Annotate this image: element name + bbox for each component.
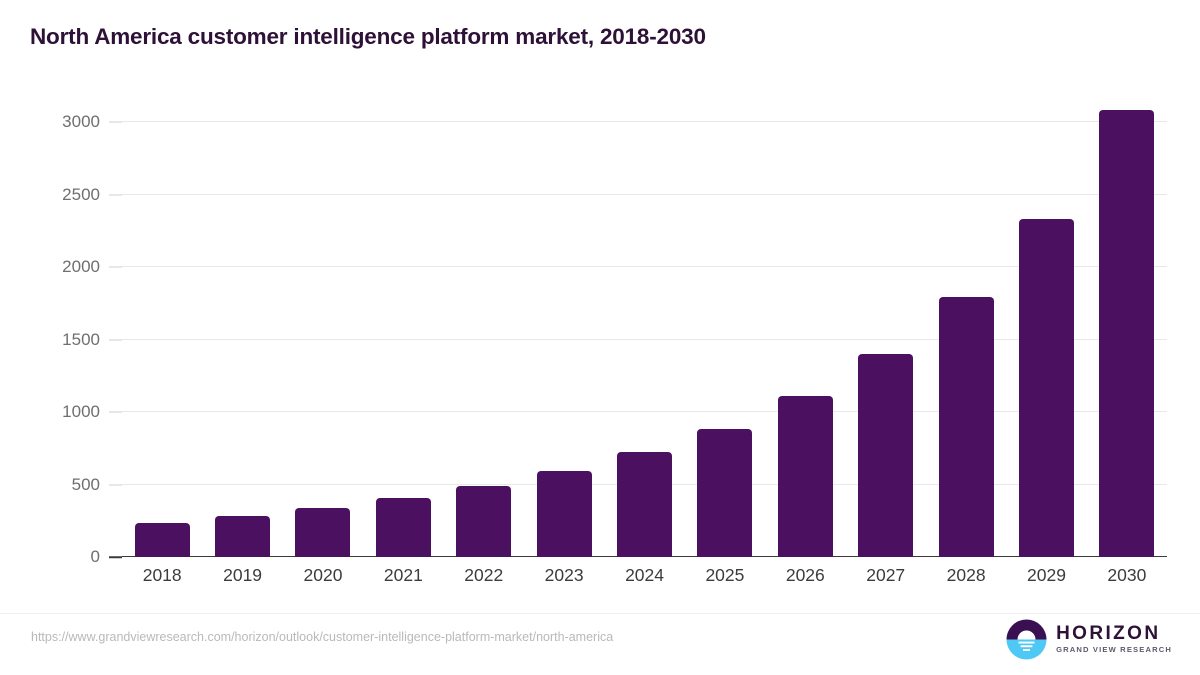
bar-series	[122, 62, 1167, 557]
bar-2022[interactable]	[456, 486, 511, 557]
y-tick-label: 3000	[62, 112, 100, 132]
horizon-sunrise-icon	[1006, 619, 1047, 660]
y-tick-mark	[109, 484, 122, 485]
x-tick-label-2019: 2019	[202, 565, 282, 595]
logo-wordmark: HORIZON	[1056, 624, 1172, 644]
bar-slot	[524, 62, 604, 557]
x-axis-ticks: 2018201920202021202220232024202520262027…	[122, 565, 1167, 595]
x-tick-label-2028: 2028	[926, 565, 1006, 595]
y-tick-mark	[109, 267, 122, 268]
page-title: North America customer intelligence plat…	[30, 24, 706, 50]
y-tick-label: 1500	[62, 330, 100, 350]
bar-2024[interactable]	[617, 452, 672, 557]
x-tick-label-2024: 2024	[604, 565, 684, 595]
x-tick-label-2025: 2025	[685, 565, 765, 595]
bar-slot	[1006, 62, 1086, 557]
bar-slot	[846, 62, 926, 557]
bar-2023[interactable]	[537, 471, 592, 557]
bar-slot	[1087, 62, 1167, 557]
y-tick-label: 0	[91, 547, 100, 567]
bar-slot	[604, 62, 684, 557]
brand-logo[interactable]: HORIZON GRAND VIEW RESEARCH	[1006, 618, 1172, 660]
bar-slot	[444, 62, 524, 557]
x-tick-label-2023: 2023	[524, 565, 604, 595]
x-tick-label-2021: 2021	[363, 565, 443, 595]
bar-2027[interactable]	[858, 354, 913, 557]
bar-slot	[685, 62, 765, 557]
bar-slot	[122, 62, 202, 557]
y-tick-mark	[109, 556, 122, 558]
source-url[interactable]: https://www.grandviewresearch.com/horizo…	[31, 630, 613, 644]
x-tick-label-2029: 2029	[1006, 565, 1086, 595]
x-tick-label-2027: 2027	[846, 565, 926, 595]
y-tick-label: 1000	[62, 402, 100, 422]
y-tick-label: 2000	[62, 257, 100, 277]
y-tick-mark	[109, 194, 122, 195]
footer-divider	[0, 613, 1200, 614]
plot-area	[122, 122, 1167, 557]
logo-text: HORIZON GRAND VIEW RESEARCH	[1056, 624, 1172, 654]
x-tick-label-2026: 2026	[765, 565, 845, 595]
bar-2028[interactable]	[939, 297, 994, 557]
bar-2025[interactable]	[697, 429, 752, 557]
bar-slot	[363, 62, 443, 557]
bar-slot	[765, 62, 845, 557]
bar-2029[interactable]	[1019, 219, 1074, 557]
y-tick-mark	[109, 339, 122, 340]
y-tick-mark	[109, 412, 122, 413]
x-tick-label-2018: 2018	[122, 565, 202, 595]
x-tick-label-2030: 2030	[1087, 565, 1167, 595]
bar-2026[interactable]	[778, 396, 833, 557]
bar-slot	[283, 62, 363, 557]
y-tick-label: 500	[72, 475, 100, 495]
bar-slot	[202, 62, 282, 557]
bar-2030[interactable]	[1099, 110, 1154, 557]
bar-slot	[926, 62, 1006, 557]
bar-2019[interactable]	[215, 516, 270, 557]
bar-2020[interactable]	[295, 508, 350, 557]
logo-subtitle: GRAND VIEW RESEARCH	[1056, 645, 1172, 654]
chart-card: North America customer intelligence plat…	[0, 0, 1200, 675]
bar-2021[interactable]	[376, 498, 431, 557]
bar-2018[interactable]	[135, 523, 190, 557]
y-tick-mark	[109, 122, 122, 123]
y-tick-label: 2500	[62, 185, 100, 205]
x-tick-label-2020: 2020	[283, 565, 363, 595]
y-axis-ticks: 050010001500200025003000	[0, 122, 122, 557]
x-tick-label-2022: 2022	[444, 565, 524, 595]
